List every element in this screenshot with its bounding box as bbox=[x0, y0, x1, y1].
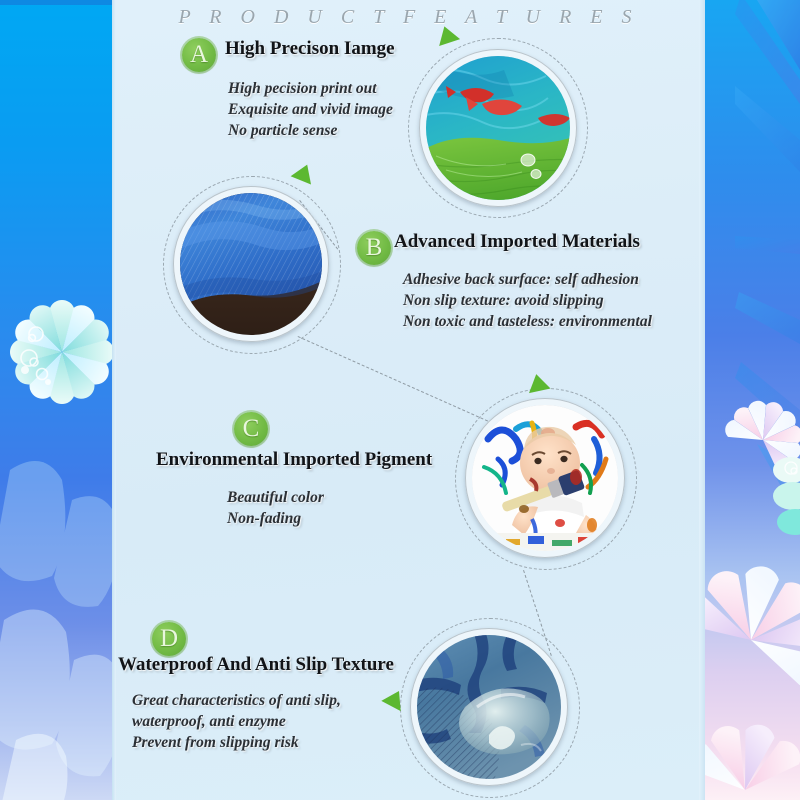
left-border-flower-graphic bbox=[0, 0, 112, 800]
bullet-line: waterproof, anti enzyme bbox=[132, 711, 341, 732]
bullet-line: Non slip texture: avoid slipping bbox=[403, 290, 652, 311]
bullet-line: No particle sense bbox=[228, 120, 393, 141]
photo-koi-fish-on-green-mat bbox=[426, 56, 570, 200]
bullet-line: Non toxic and tasteless: environmental bbox=[403, 311, 652, 332]
badge-letter-b: B bbox=[357, 231, 391, 265]
bullet-line: Non-fading bbox=[227, 508, 324, 529]
heading-feature-b: Advanced Imported Materials bbox=[394, 231, 640, 253]
bullets-feature-b: Adhesive back surface: self adhesion Non… bbox=[403, 269, 652, 332]
bullet-line: Exquisite and vivid image bbox=[228, 99, 393, 120]
heading-feature-a: High Precison Iamge bbox=[225, 38, 395, 60]
bullets-feature-a: High pecision print out Exquisite and vi… bbox=[228, 78, 393, 141]
heading-feature-c: Environmental Imported Pigment bbox=[156, 449, 432, 471]
right-border-flower-graphic bbox=[705, 0, 800, 800]
badge-letter-d: D bbox=[152, 622, 186, 656]
bullets-feature-c: Beautiful color Non-fading bbox=[227, 487, 324, 529]
right-decorative-border bbox=[705, 0, 800, 800]
badge-letter-a: A bbox=[182, 38, 216, 72]
bullet-line: Adhesive back surface: self adhesion bbox=[403, 269, 652, 290]
badge-letter-c: C bbox=[234, 412, 268, 446]
bullet-line: Prevent from slipping risk bbox=[132, 732, 341, 753]
photo-baby-with-paintbrush bbox=[472, 405, 618, 551]
bullet-line: Beautiful color bbox=[227, 487, 324, 508]
heading-feature-d: Waterproof And Anti Slip Texture bbox=[118, 654, 394, 676]
panel-left-edge bbox=[112, 0, 116, 800]
bullet-line: High pecision print out bbox=[228, 78, 393, 99]
page-title: P R O D U C T F E A T U R E S bbox=[112, 6, 705, 29]
infographic-root: P R O D U C T F E A T U R E S A High Pre… bbox=[0, 0, 800, 800]
bullets-feature-d: Great characteristics of anti slip, wate… bbox=[132, 690, 341, 753]
left-border-top-cap bbox=[0, 0, 112, 5]
bullet-line: Great characteristics of anti slip, bbox=[132, 690, 341, 711]
photo-water-droplet-anti-slip-texture bbox=[417, 635, 561, 779]
photo-blue-textured-fabric bbox=[180, 193, 322, 335]
left-decorative-border bbox=[0, 0, 112, 800]
